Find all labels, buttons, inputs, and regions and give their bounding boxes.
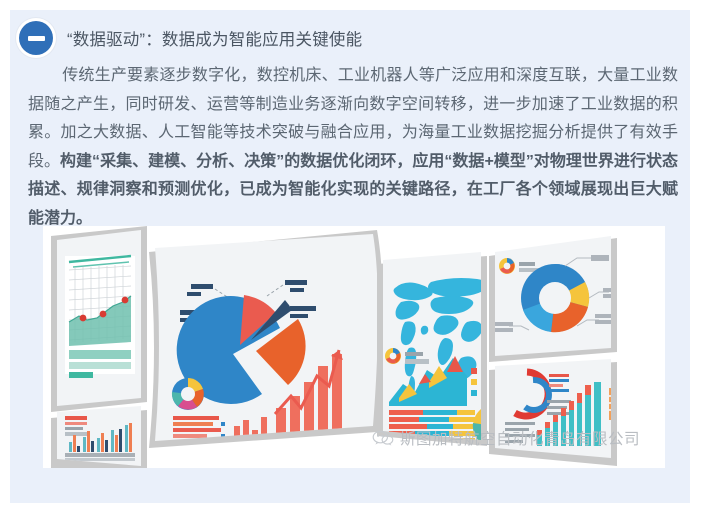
illustration-card [43, 226, 665, 468]
data-analytics-dashboard-illustration [43, 226, 665, 468]
bar-chart-screen [51, 406, 147, 468]
minus-bar [28, 36, 45, 41]
donut-chart-screen [489, 236, 619, 362]
pie-chart-screen [149, 230, 383, 448]
small-donut [172, 378, 204, 410]
screenshot-root: “数据驱动”：数据成为智能应用关键使能 传统生产要素逐步数字化，数控机床、工业机… [0, 0, 707, 518]
section-header: “数据驱动”：数据成为智能应用关键使能 [10, 18, 690, 58]
gauge-screen [489, 359, 653, 466]
donut-chart [521, 264, 589, 332]
minus-circle-icon[interactable] [19, 21, 53, 55]
paragraph-bold-text: 构建“采集、建模、分析、决策”的数据优化闭环，应用“数据+模型”对物理世界进行状… [28, 153, 678, 227]
article-paragraph: 传统生产要素逐步数字化，数控机床、工业机器人等广泛应用和深度互联，大量工业数据随… [28, 62, 678, 233]
page-title: “数据驱动”：数据成为智能应用关键使能 [67, 26, 362, 50]
area-chart-screen [51, 226, 147, 412]
